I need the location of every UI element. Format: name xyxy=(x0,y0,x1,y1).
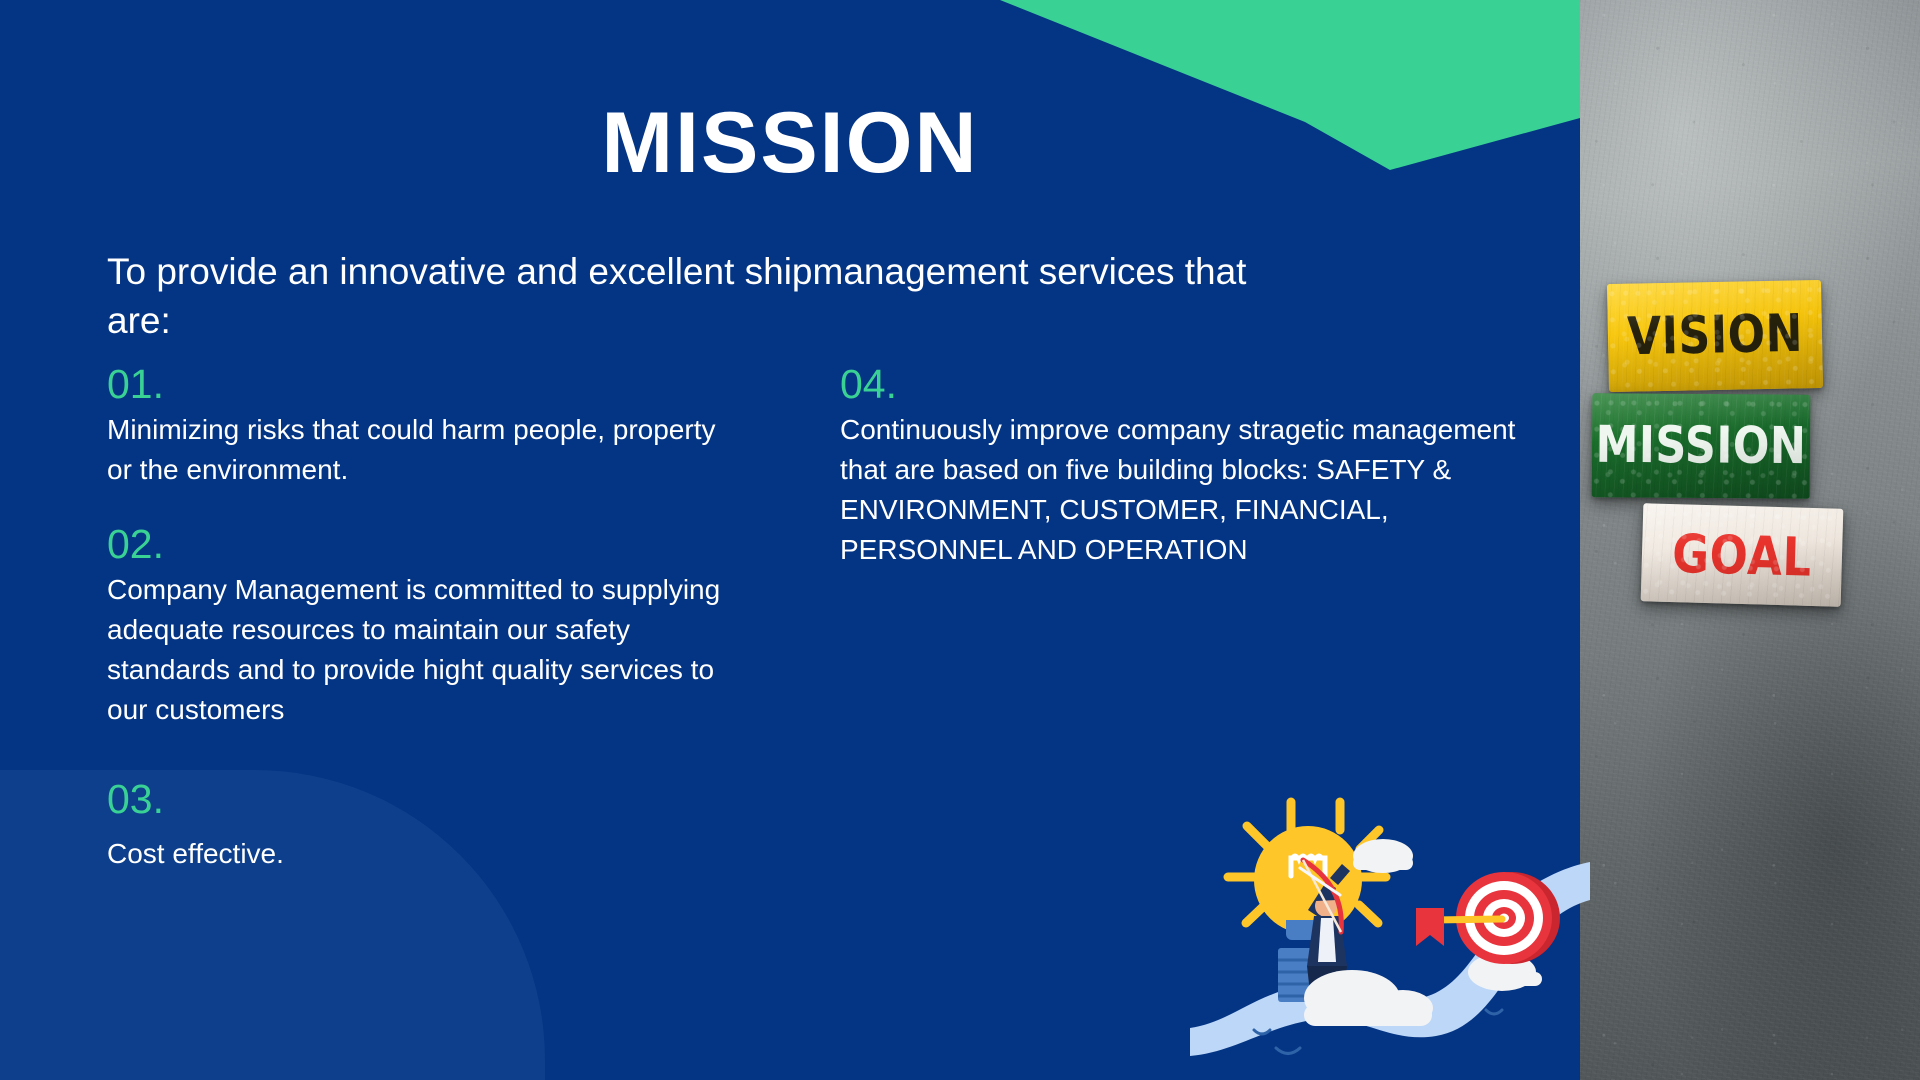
mission-slide: VISION MISSION GOAL MISSION To provide a… xyxy=(0,0,1920,1080)
right-column: 04. Continuously improve company straget… xyxy=(840,360,1540,595)
mission-item-02-number: 02. xyxy=(107,520,747,568)
mission-item-03-body: Cost effective. xyxy=(107,834,747,874)
left-column: 01. Minimizing risks that could harm peo… xyxy=(107,360,747,899)
mission-item-04: 04. Continuously improve company straget… xyxy=(840,360,1540,569)
mission-item-01-number: 01. xyxy=(107,360,747,408)
intro-paragraph: To provide an innovative and excellent s… xyxy=(107,248,1287,346)
mission-item-02: 02. Company Management is committed to s… xyxy=(107,520,747,729)
mission-item-03: 03. Cost effective. xyxy=(107,775,747,873)
page-title: MISSION xyxy=(0,100,1580,186)
mission-item-02-body: Company Management is committed to suppl… xyxy=(107,570,747,729)
mission-item-04-number: 04. xyxy=(840,360,1540,408)
mission-item-04-body: Continuously improve company stragetic m… xyxy=(840,410,1540,569)
mission-item-03-number: 03. xyxy=(107,775,747,823)
mission-item-01-body: Minimizing risks that could harm people,… xyxy=(107,410,747,490)
mission-item-01: 01. Minimizing risks that could harm peo… xyxy=(107,360,747,490)
